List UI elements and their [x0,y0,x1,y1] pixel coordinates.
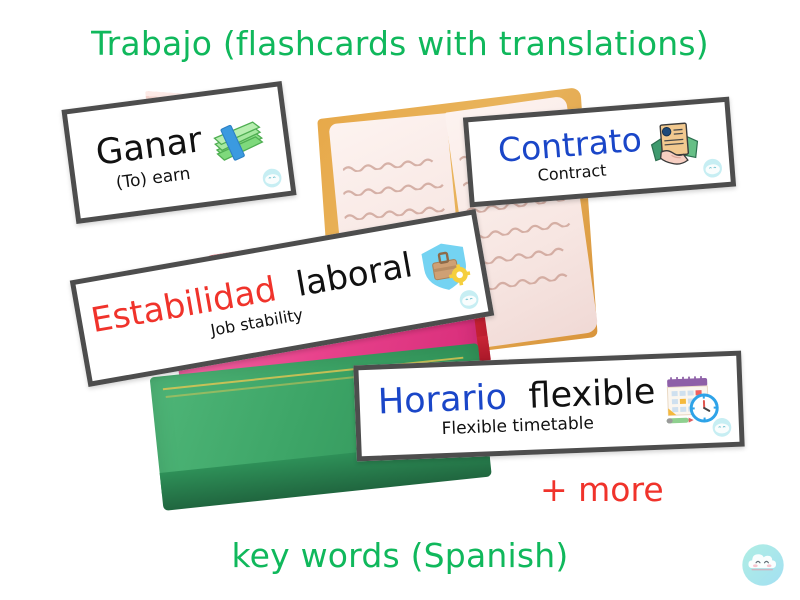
flashcard-text: Contrato Contract [497,122,645,186]
spanish-word-2: flexible [528,371,656,416]
footer-title: key words (Spanish) [0,536,800,575]
flashcard-text: Ganar (To) earn [94,123,207,194]
cloud-face-logo-icon [740,542,786,588]
spanish-word: Contrato [496,119,643,169]
money-stack-icon [208,117,270,172]
spanish-word-2: laboral [293,245,415,305]
contract-handshake-icon [646,119,702,173]
mini-watermark-icon [260,166,285,191]
page-title: Trabajo (flashcards with translations) [0,24,800,63]
mini-watermark-icon [456,287,481,312]
more-label: + more [540,470,664,509]
spanish-word-1: Horario [377,377,508,422]
flashcard-horario-flexible[interactable]: Horario flexible Flexible timetable [353,351,744,462]
flashcard-text: Horario flexible Flexible timetable [377,374,657,440]
mini-watermark-icon [701,156,725,180]
english-translation: Contract [537,162,607,183]
mini-watermark-icon [711,416,734,439]
slide-canvas: Trabajo (flashcards with translations) [0,0,800,600]
english-translation: Flexible timetable [441,415,594,438]
